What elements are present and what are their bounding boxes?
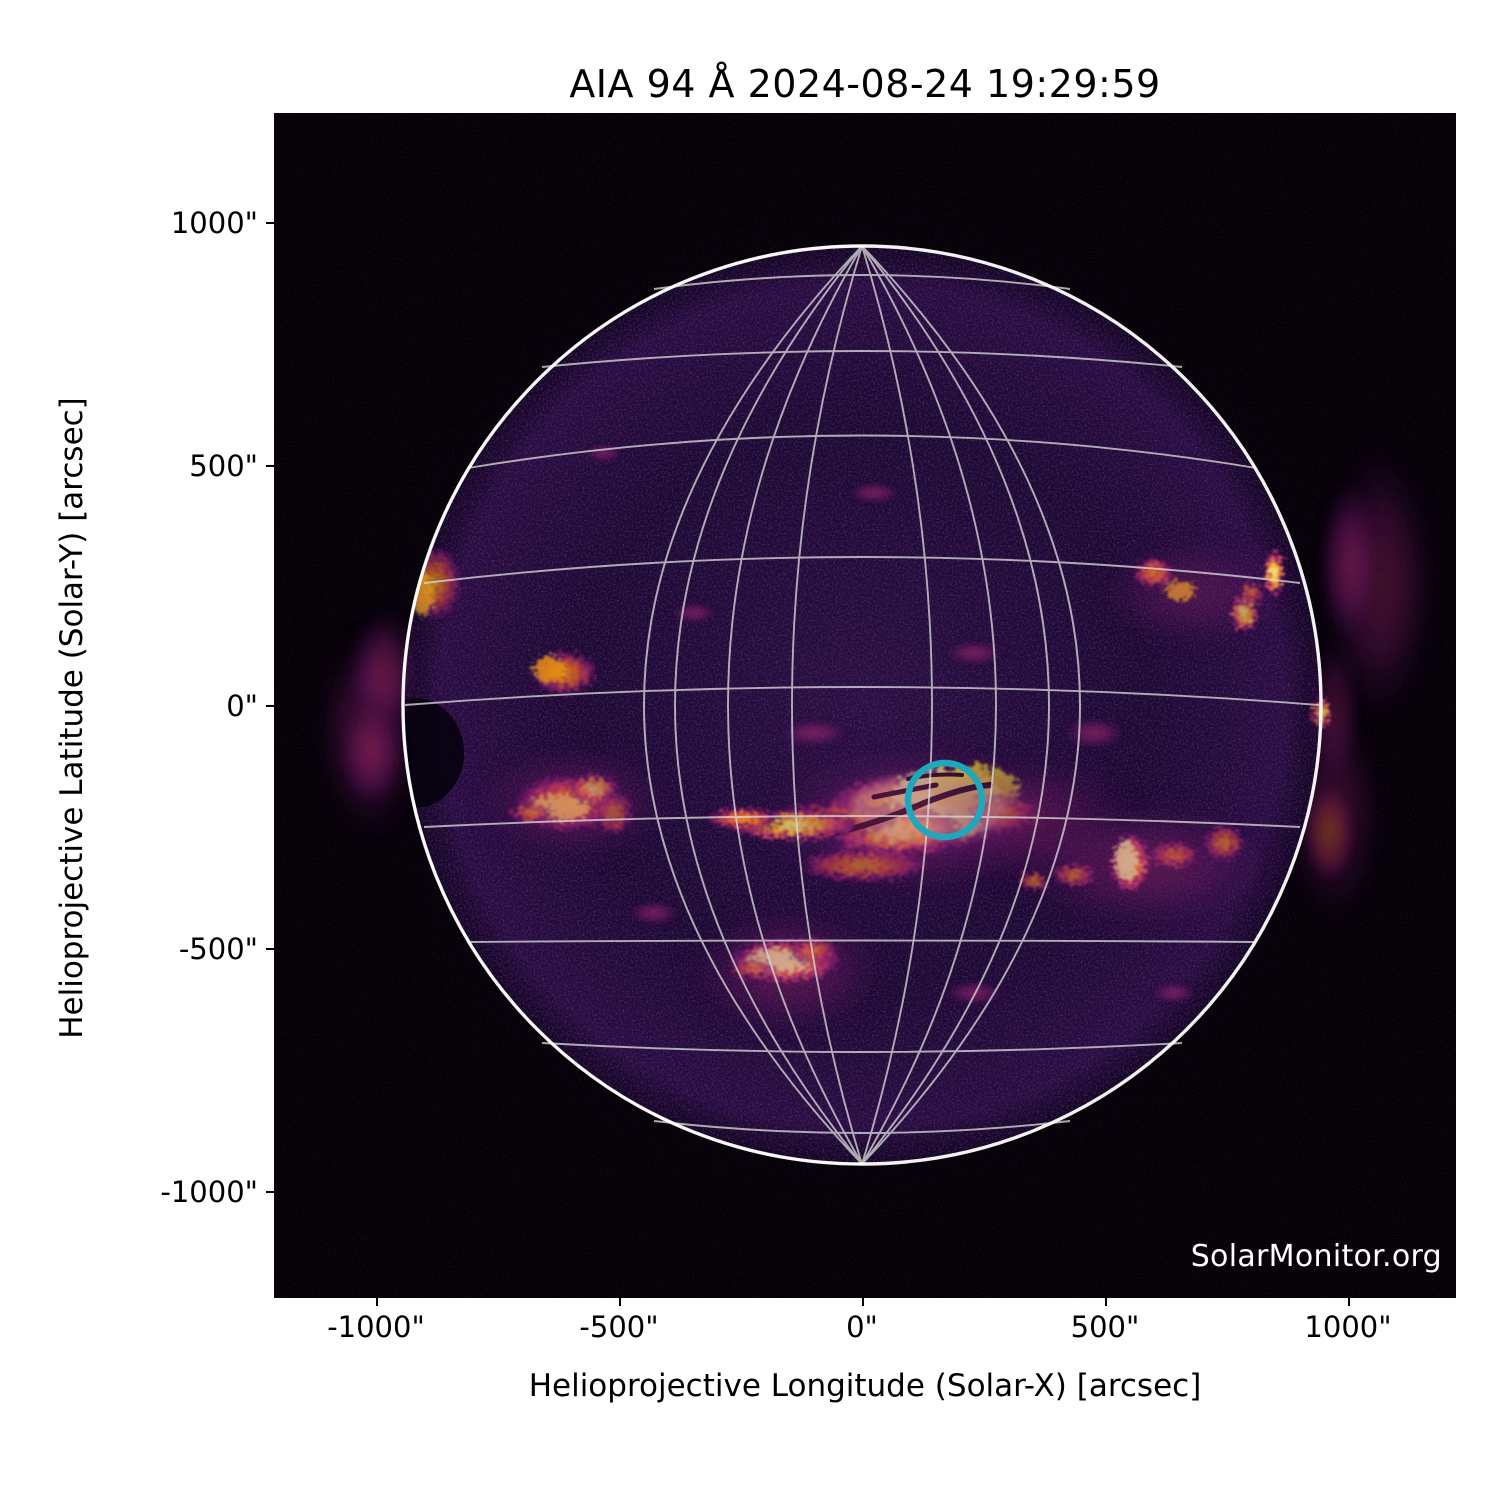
ytick-label--500: -500" [110,932,258,966]
xtick-mark--1000 [376,1298,378,1306]
y-axis-label: Helioprojective Latitude (Solar-Y) [arcs… [54,308,90,1128]
xtick-mark-1000 [1348,1298,1350,1306]
x-axis-label: Helioprojective Longitude (Solar-X) [arc… [274,1368,1456,1404]
ytick-mark--500 [266,948,274,950]
ytick-mark-500 [266,465,274,467]
ytick-label-0: 0" [110,689,258,723]
xtick-label--500: -500" [579,1310,658,1344]
xtick-label-0: 0" [846,1310,878,1344]
figure-title: AIA 94 Å 2024-08-24 19:29:59 [274,62,1456,106]
ytick-label-1000: 1000" [110,206,258,240]
solar-corona-image [274,113,1456,1298]
xtick-label-500: 500" [1071,1310,1140,1344]
xtick-mark-500 [1105,1298,1107,1306]
xtick-label--1000: -1000" [327,1310,425,1344]
watermark-solarmonitor: SolarMonitor.org [1191,1239,1442,1274]
plot-area[interactable]: SolarMonitor.org [274,113,1456,1298]
ytick-mark-0 [266,705,274,707]
xtick-mark--500 [619,1298,621,1306]
xtick-mark-0 [862,1298,864,1306]
ytick-mark-1000 [266,222,274,224]
ytick-label--1000: -1000" [110,1175,258,1209]
ytick-label-500: 500" [110,449,258,483]
xtick-label-1000: 1000" [1304,1310,1391,1344]
solar-image-figure: AIA 94 Å 2024-08-24 19:29:59 [0,0,1500,1500]
ytick-mark--1000 [266,1191,274,1193]
